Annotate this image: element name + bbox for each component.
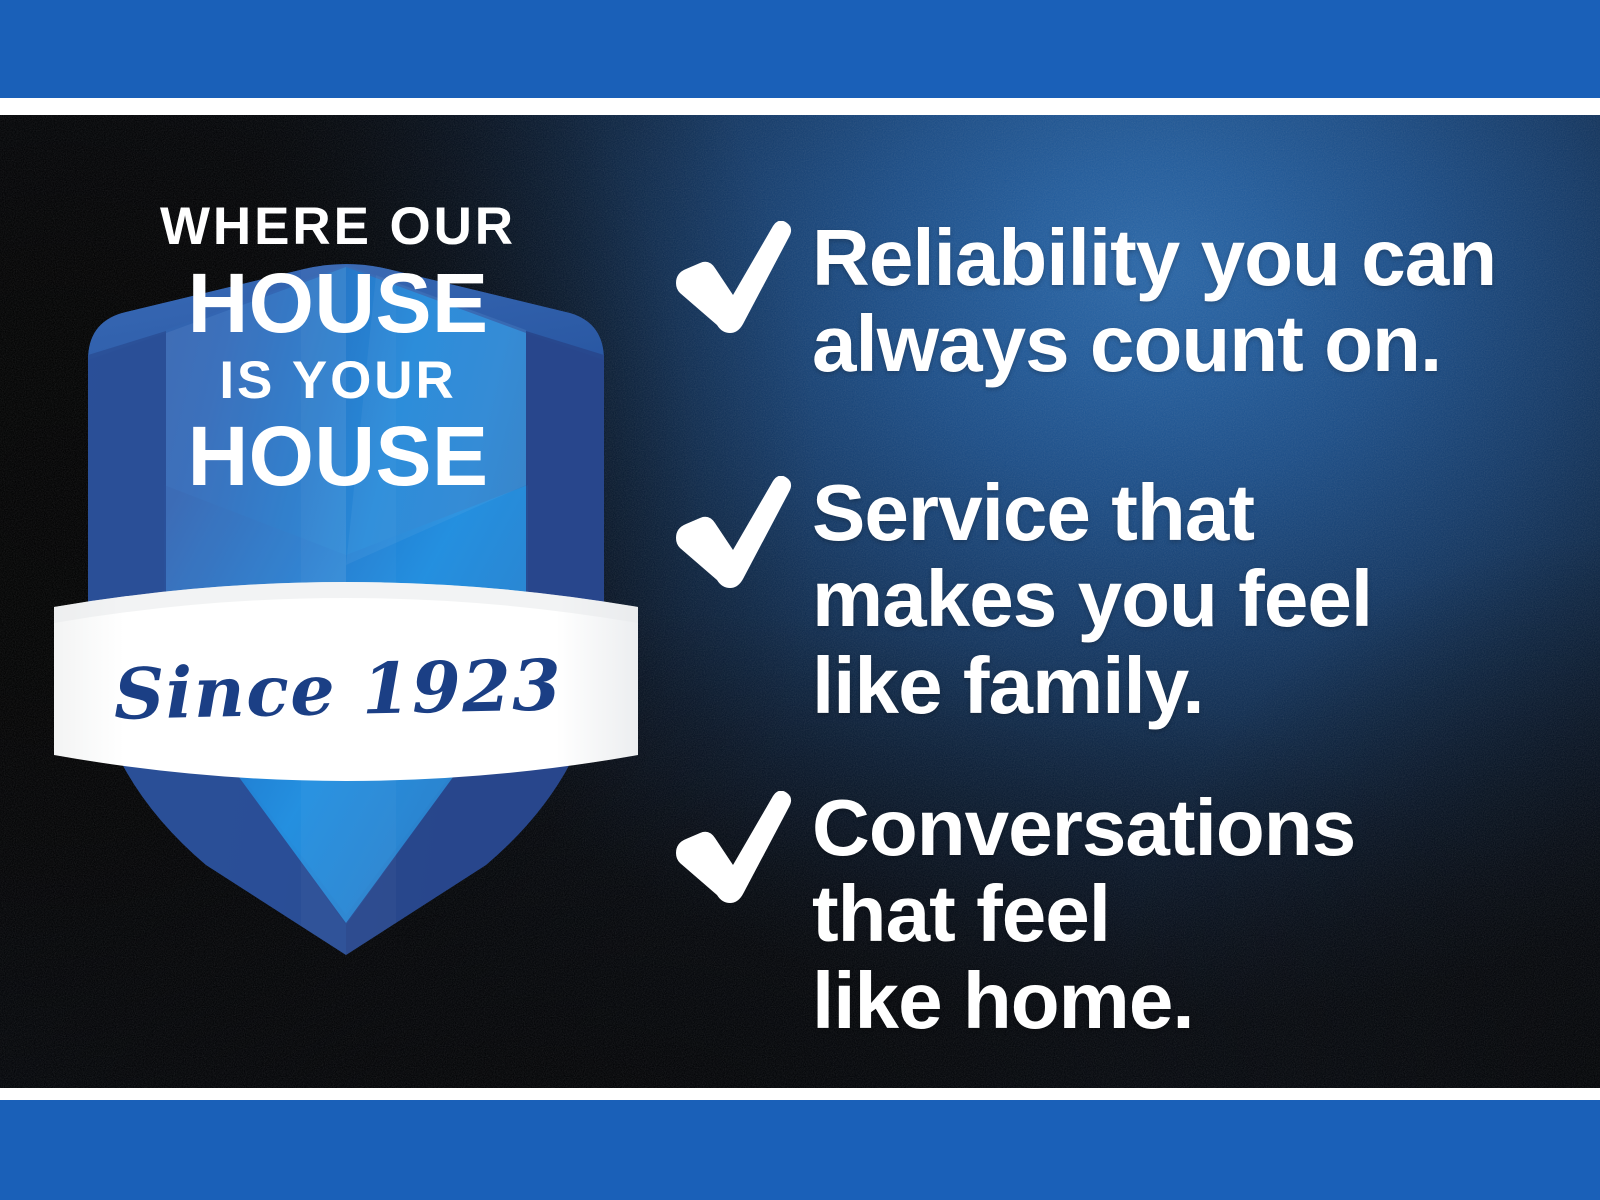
bottom-brand-bar bbox=[0, 1100, 1600, 1200]
check-icon bbox=[672, 785, 812, 903]
benefit-item: Service that makes you feel like family. bbox=[672, 470, 1552, 729]
benefit-text: Reliability you can always count on. bbox=[812, 215, 1552, 388]
benefit-item: Reliability you can always count on. bbox=[672, 215, 1552, 388]
check-icon bbox=[672, 470, 812, 588]
benefits-list: Reliability you can always count on. Ser… bbox=[672, 115, 1552, 1088]
benefit-text: Service that makes you feel like family. bbox=[812, 470, 1552, 729]
top-white-divider bbox=[0, 98, 1600, 115]
benefit-text: Conversations that feel like home. bbox=[812, 785, 1552, 1044]
promo-graphic: Where our House is your House Since 1923… bbox=[0, 0, 1600, 1200]
shield-logo bbox=[46, 155, 646, 955]
bottom-white-divider bbox=[0, 1088, 1600, 1100]
benefit-item: Conversations that feel like home. bbox=[672, 785, 1552, 1044]
top-brand-bar bbox=[0, 0, 1600, 98]
shield-banner bbox=[54, 582, 638, 781]
check-icon bbox=[672, 215, 812, 333]
